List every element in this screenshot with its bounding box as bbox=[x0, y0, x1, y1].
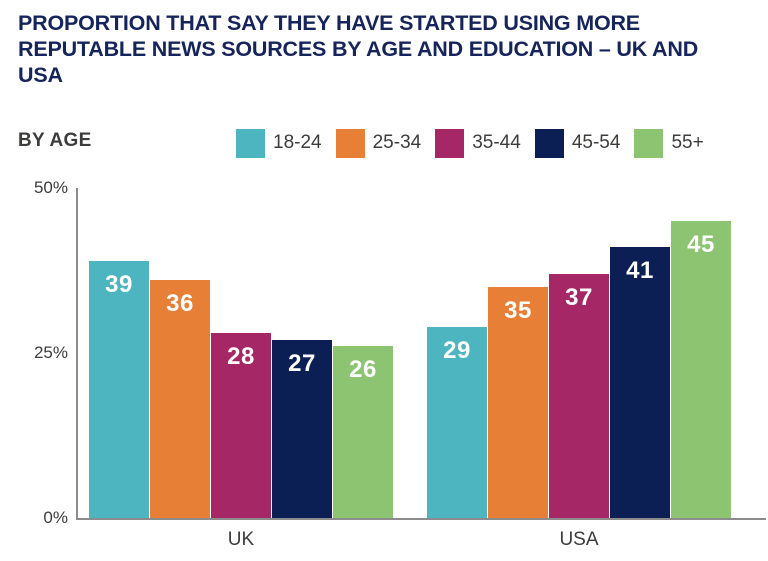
chart-plot-area: 0%25%50% 39362827262935374145 UKUSA bbox=[0, 172, 768, 561]
legend-swatch-icon bbox=[435, 129, 464, 158]
legend-swatch-icon bbox=[535, 129, 564, 158]
legend-swatch-icon bbox=[336, 129, 365, 158]
legend-items: 18-2425-3435-4445-5455+ bbox=[236, 124, 704, 162]
bar-value-label: 36 bbox=[150, 290, 210, 318]
bar-uk-55plus[interactable]: 26 bbox=[333, 346, 393, 518]
legend-item-label: 45-54 bbox=[572, 132, 621, 154]
bar-value-label: 45 bbox=[671, 231, 731, 259]
x-axis-label-usa: USA bbox=[427, 529, 731, 551]
bar-uk-35-44[interactable]: 28 bbox=[211, 333, 271, 518]
bar-usa-18-24[interactable]: 29 bbox=[427, 327, 487, 518]
legend-item-55plus[interactable]: 55+ bbox=[634, 129, 703, 158]
legend-swatch-icon bbox=[236, 129, 265, 158]
bar-uk-18-24[interactable]: 39 bbox=[89, 261, 149, 518]
page-title: PROPORTION THAT SAY THEY HAVE STARTED US… bbox=[18, 10, 748, 88]
bar-value-label: 28 bbox=[211, 343, 271, 371]
legend-item-label: 18-24 bbox=[273, 132, 322, 154]
bar-usa-35-44[interactable]: 37 bbox=[549, 274, 609, 518]
bar-value-label: 41 bbox=[610, 257, 670, 285]
legend-item-25-34[interactable]: 25-34 bbox=[336, 129, 422, 158]
bar-usa-55plus[interactable]: 45 bbox=[671, 221, 731, 518]
bar-value-label: 29 bbox=[427, 337, 487, 365]
legend-item-45-54[interactable]: 45-54 bbox=[535, 129, 621, 158]
bars-layer: 39362827262935374145 bbox=[0, 172, 768, 561]
bar-value-label: 26 bbox=[333, 356, 393, 384]
legend-item-label: 25-34 bbox=[373, 132, 422, 154]
legend-item-35-44[interactable]: 35-44 bbox=[435, 129, 521, 158]
bar-uk-45-54[interactable]: 27 bbox=[272, 340, 332, 518]
bar-uk-25-34[interactable]: 36 bbox=[150, 280, 210, 518]
legend-item-18-24[interactable]: 18-24 bbox=[236, 129, 322, 158]
bar-value-label: 27 bbox=[272, 350, 332, 378]
legend: BY AGE 18-2425-3435-4445-5455+ bbox=[0, 124, 768, 162]
legend-section-label: BY AGE bbox=[18, 130, 92, 152]
x-axis-label-uk: UK bbox=[89, 529, 393, 551]
bar-usa-25-34[interactable]: 35 bbox=[488, 287, 548, 518]
legend-item-label: 55+ bbox=[671, 132, 703, 154]
bar-value-label: 37 bbox=[549, 284, 609, 312]
bar-value-label: 39 bbox=[89, 271, 149, 299]
legend-item-label: 35-44 bbox=[472, 132, 521, 154]
legend-swatch-icon bbox=[634, 129, 663, 158]
bar-value-label: 35 bbox=[488, 297, 548, 325]
bar-usa-45-54[interactable]: 41 bbox=[610, 247, 670, 518]
